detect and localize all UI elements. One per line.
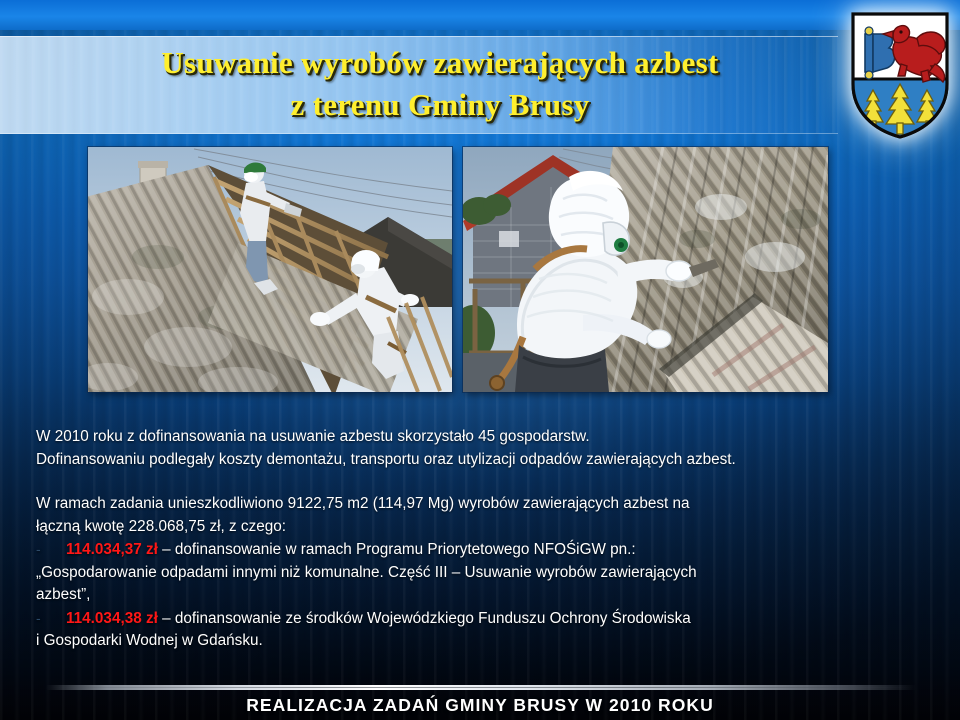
- paragraph-1-line-1: W 2010 roku z dofinansowania na usuwanie…: [36, 426, 932, 449]
- footer-divider: [46, 685, 916, 690]
- footer-title: REALIZACJA ZADAŃ GMINY BRUSY W 2010 ROKU: [0, 695, 960, 716]
- presentation-slide: Usuwanie wyrobów zawierających azbest z …: [0, 0, 960, 720]
- title-line-1: Usuwanie wyrobów zawierających azbest: [161, 42, 718, 84]
- amount-wfosigw: 114.034,38 zł: [66, 610, 158, 627]
- top-color-band: [0, 0, 960, 30]
- bullet-dash-1: -: [36, 538, 66, 561]
- amount-nfosigw: 114.034,37 zł: [66, 541, 158, 558]
- bullet-dash-2: -: [36, 607, 66, 630]
- body-text-block: W 2010 roku z dofinansowania na usuwanie…: [36, 426, 932, 653]
- bullet-item-1: -114.034,37 zł – dofinansowanie w ramach…: [36, 538, 932, 562]
- bullet-item-2: -114.034,38 zł – dofinansowanie ze środk…: [36, 607, 932, 631]
- bullet-2-text: – dofinansowanie ze środków Wojewódzkieg…: [158, 610, 691, 627]
- bullet-1-continuation-2: azbest”,: [36, 584, 932, 607]
- page-title: Usuwanie wyrobów zawierających azbest z …: [40, 38, 840, 130]
- paragraph-2-line-2: łączną kwotę 228.068,75 zł, z czego:: [36, 516, 932, 539]
- photo-asbestos-roof-removal-closeup-worker: [463, 147, 828, 392]
- paragraph-2-line-1: W ramach zadania unieszkodliwiono 9122,7…: [36, 493, 932, 516]
- photo-asbestos-roof-removal-two-workers: [88, 147, 452, 392]
- coat-of-arms-icon: [843, 6, 957, 142]
- paragraph-1-line-2: Dofinansowaniu podlegały koszty demontaż…: [36, 449, 932, 472]
- bullet-1-continuation-1: „Gospodarowanie odpadami innymi niż komu…: [36, 562, 932, 585]
- bullet-2-continuation-1: i Gospodarki Wodnej w Gdańsku.: [36, 630, 932, 653]
- title-line-2: z terenu Gminy Brusy: [290, 84, 589, 126]
- bullet-1-text: – dofinansowanie w ramach Programu Prior…: [158, 541, 636, 558]
